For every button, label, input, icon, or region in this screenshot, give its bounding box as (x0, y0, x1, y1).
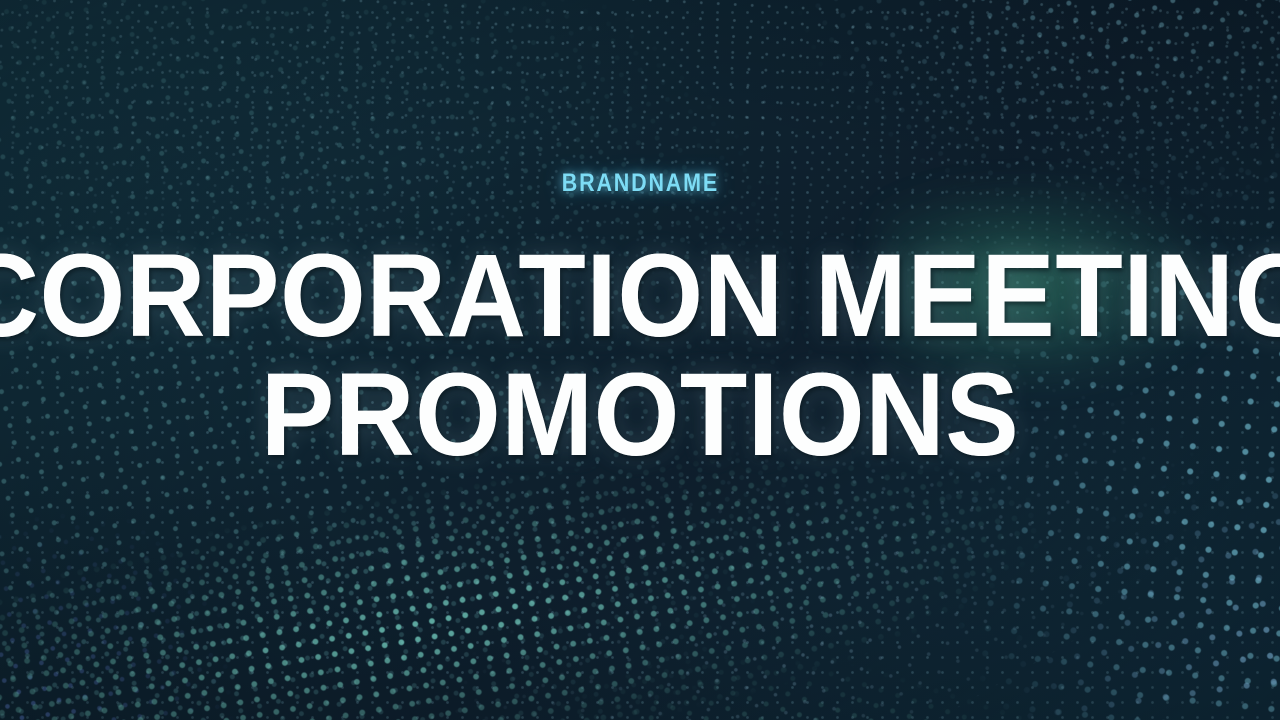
headline-title: CORPORATION MEETING PROMOTIONS (0, 242, 1280, 469)
headline-line-2: PROMOTIONS (0, 361, 1280, 470)
slide-content: BRANDNAME CORPORATION MEETING PROMOTIONS (0, 0, 1280, 720)
brand-name-label: BRANDNAME (561, 171, 718, 196)
headline-line-1: CORPORATION MEETING (0, 242, 1280, 351)
slide-canvas: BRANDNAME CORPORATION MEETING PROMOTIONS (0, 0, 1280, 720)
